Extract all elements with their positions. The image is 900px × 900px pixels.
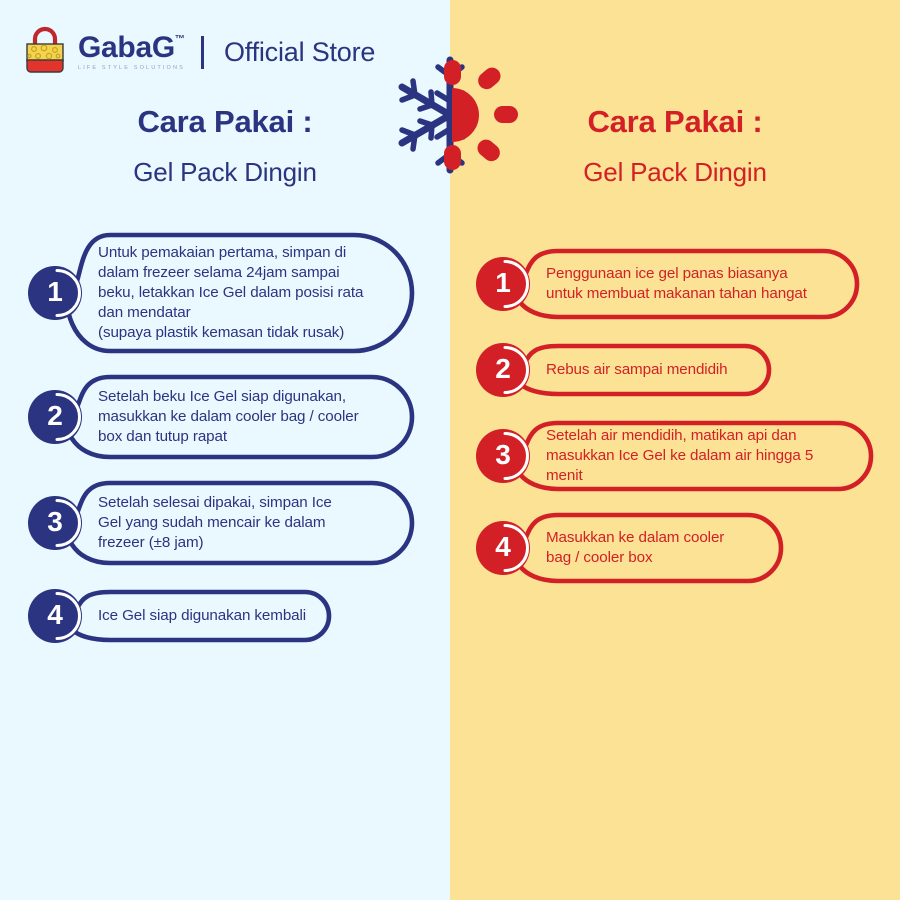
step-text: Ice Gel siap digunakan kembali <box>98 606 307 626</box>
step-item: 2Setelah beku Ice Gel siap digunakan, ma… <box>0 370 450 464</box>
step-text: Setelah beku Ice Gel siap digunakan, mas… <box>98 387 390 448</box>
step-badge-circle <box>28 390 82 444</box>
official-store-label: Official Store <box>224 37 375 68</box>
brand-tagline: Life Style Solutions <box>78 66 185 72</box>
step-badge-circle <box>476 257 530 311</box>
shopping-bag-icon <box>22 26 68 78</box>
snowflake-sun-icon <box>382 54 518 176</box>
step-text: Masukkan ke dalam cooler bag / cooler bo… <box>546 528 759 568</box>
step-item: 4Ice Gel siap digunakan kembali <box>0 582 450 650</box>
step-item: 1Untuk pemakaian pertama, simpan di dala… <box>0 228 450 358</box>
step-badge-circle <box>28 496 82 550</box>
step-text: Rebus air sampai mendidih <box>546 360 747 380</box>
step-text: Setelah air mendidih, matikan api dan ma… <box>546 426 849 487</box>
step-item: 3Setelah air mendidih, matikan api dan m… <box>450 416 900 496</box>
hot-steps-list: 1Penggunaan ice gel panas biasanya untuk… <box>450 244 900 600</box>
brand-header: GabaG ™ Life Style Solutions Official St… <box>22 26 375 78</box>
gel-pack-instructions-infographic: GabaG ™ Life Style Solutions Official St… <box>0 0 900 900</box>
brand-name: GabaG <box>78 33 175 63</box>
step-text: Setelah selesai dipakai, simpan Ice Gel … <box>98 493 390 554</box>
brand-name-row: GabaG ™ <box>78 33 185 63</box>
step-badge-circle <box>28 266 82 320</box>
step-text: Untuk pemakaian pertama, simpan di dalam… <box>98 243 390 344</box>
step-item: 4Masukkan ke dalam cooler bag / cooler b… <box>450 508 900 588</box>
step-badge-circle <box>476 343 530 397</box>
step-badge-circle <box>476 521 530 575</box>
step-text: Penggunaan ice gel panas biasanya untuk … <box>546 264 835 304</box>
trademark-symbol: ™ <box>175 35 185 45</box>
step-item: 3Setelah selesai dipakai, simpan Ice Gel… <box>0 476 450 570</box>
step-badge-circle <box>476 429 530 483</box>
step-item: 2Rebus air sampai mendidih <box>450 336 900 404</box>
step-item: 1Penggunaan ice gel panas biasanya untuk… <box>450 244 900 324</box>
brand-divider <box>201 36 204 69</box>
brand-wordmark: GabaG ™ Life Style Solutions <box>78 33 185 72</box>
step-badge-circle <box>28 589 82 643</box>
sun-icon <box>444 60 518 170</box>
cold-steps-list: 1Untuk pemakaian pertama, simpan di dala… <box>0 228 450 662</box>
